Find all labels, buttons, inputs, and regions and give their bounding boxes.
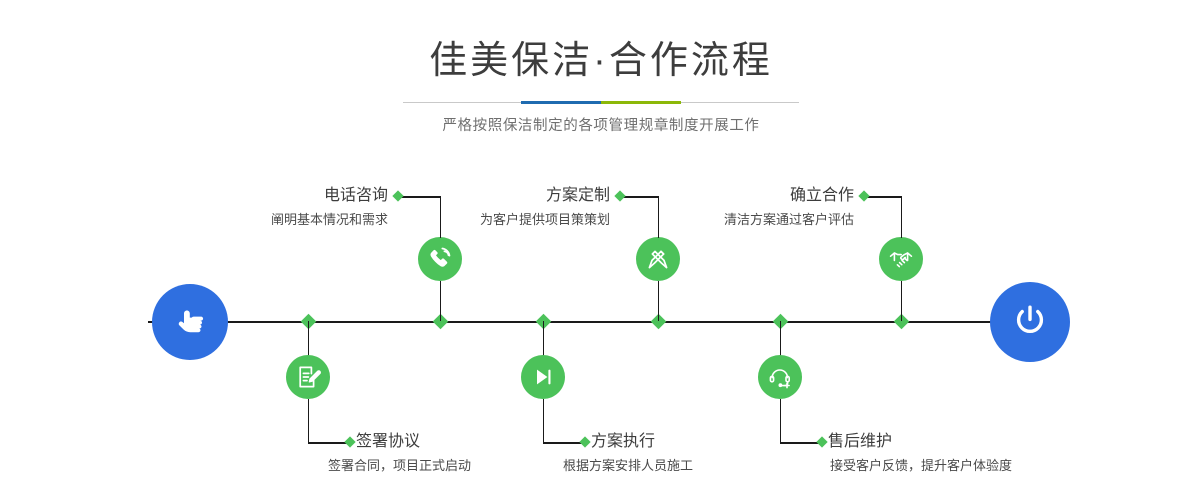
design-pencil-icon: [645, 246, 671, 272]
step-label-3: 方案定制 为客户提供项目策策划: [420, 188, 610, 226]
divider-green-segment: [601, 101, 681, 104]
step-label-1: 电话咨询 阐明基本情况和需求: [200, 188, 388, 226]
connector-horizontal: [780, 442, 822, 444]
step-lead: 售后维护: [828, 434, 1012, 450]
connector-horizontal: [620, 196, 658, 198]
label-anchor-dot: [392, 190, 403, 201]
customer-service-icon: [767, 364, 793, 390]
page-title: 佳美保洁·合作流程: [0, 42, 1202, 80]
step-icon-play-execute: [521, 355, 565, 399]
connector-horizontal: [543, 442, 585, 444]
connector-vertical: [658, 196, 660, 238]
step-icon-design-pencil: [636, 237, 680, 281]
connector-vertical: [440, 281, 442, 321]
step-label-5: 售后维护 接受客户反馈，提升客户体验度: [828, 434, 1012, 472]
connector-vertical: [901, 281, 903, 321]
step-lead: 方案定制: [420, 188, 610, 204]
page-subtitle: 严格按照保洁制定的各项管理规章制度开展工作: [0, 114, 1202, 135]
timeline-axis: [148, 321, 1054, 323]
connector-vertical: [308, 321, 310, 357]
step-icon-sign-document: [286, 355, 330, 399]
label-anchor-dot: [614, 190, 625, 201]
step-desc: 签署合同，项目正式启动: [328, 459, 471, 472]
connector-horizontal: [308, 442, 350, 444]
timeline-end-node: [990, 282, 1070, 362]
step-desc: 接受客户反馈，提升客户体验度: [830, 459, 1012, 472]
step-lead: 电话咨询: [200, 188, 388, 204]
label-anchor-dot: [579, 436, 590, 447]
step-lead: 签署协议: [356, 434, 471, 450]
step-label-4: 方案执行 根据方案安排人员施工: [591, 434, 693, 472]
connector-vertical: [543, 399, 545, 443]
step-label-2: 签署协议 签署合同，项目正式启动: [356, 434, 471, 472]
step-icon-handshake: [879, 237, 923, 281]
connector-vertical: [543, 321, 545, 357]
step-desc: 阐明基本情况和需求: [200, 213, 388, 226]
power-icon: [1009, 299, 1051, 346]
sign-document-icon: [295, 364, 321, 390]
play-execute-icon: [531, 365, 555, 389]
connector-vertical: [780, 321, 782, 357]
step-icon-phone-call: [418, 237, 462, 281]
step-lead: 方案执行: [591, 434, 693, 450]
step-desc: 为客户提供项目策策划: [420, 213, 610, 226]
step-desc: 清洁方案通过客户评估: [660, 213, 854, 226]
header: 佳美保洁·合作流程 严格按照保洁制定的各项管理规章制度开展工作: [0, 0, 1202, 135]
pointing-hand-icon: [172, 302, 208, 343]
connector-vertical: [658, 281, 660, 321]
label-anchor-dot: [858, 190, 869, 201]
connector-vertical: [780, 399, 782, 443]
label-anchor-dot: [344, 436, 355, 447]
connector-vertical: [308, 399, 310, 443]
connector-horizontal: [864, 196, 901, 198]
step-icon-customer-service: [758, 355, 802, 399]
step-lead: 确立合作: [660, 188, 854, 204]
timeline-start-node: [152, 284, 228, 360]
flow-diagram-canvas: 佳美保洁·合作流程 严格按照保洁制定的各项管理规章制度开展工作: [0, 0, 1202, 502]
divider-blue-segment: [521, 101, 601, 104]
label-anchor-dot: [816, 436, 827, 447]
phone-call-icon: [427, 246, 453, 272]
title-divider: [403, 102, 799, 103]
handshake-icon: [888, 246, 914, 272]
connector-vertical: [901, 196, 903, 238]
step-label-6: 确立合作 清洁方案通过客户评估: [660, 188, 854, 226]
step-desc: 根据方案安排人员施工: [563, 459, 693, 472]
